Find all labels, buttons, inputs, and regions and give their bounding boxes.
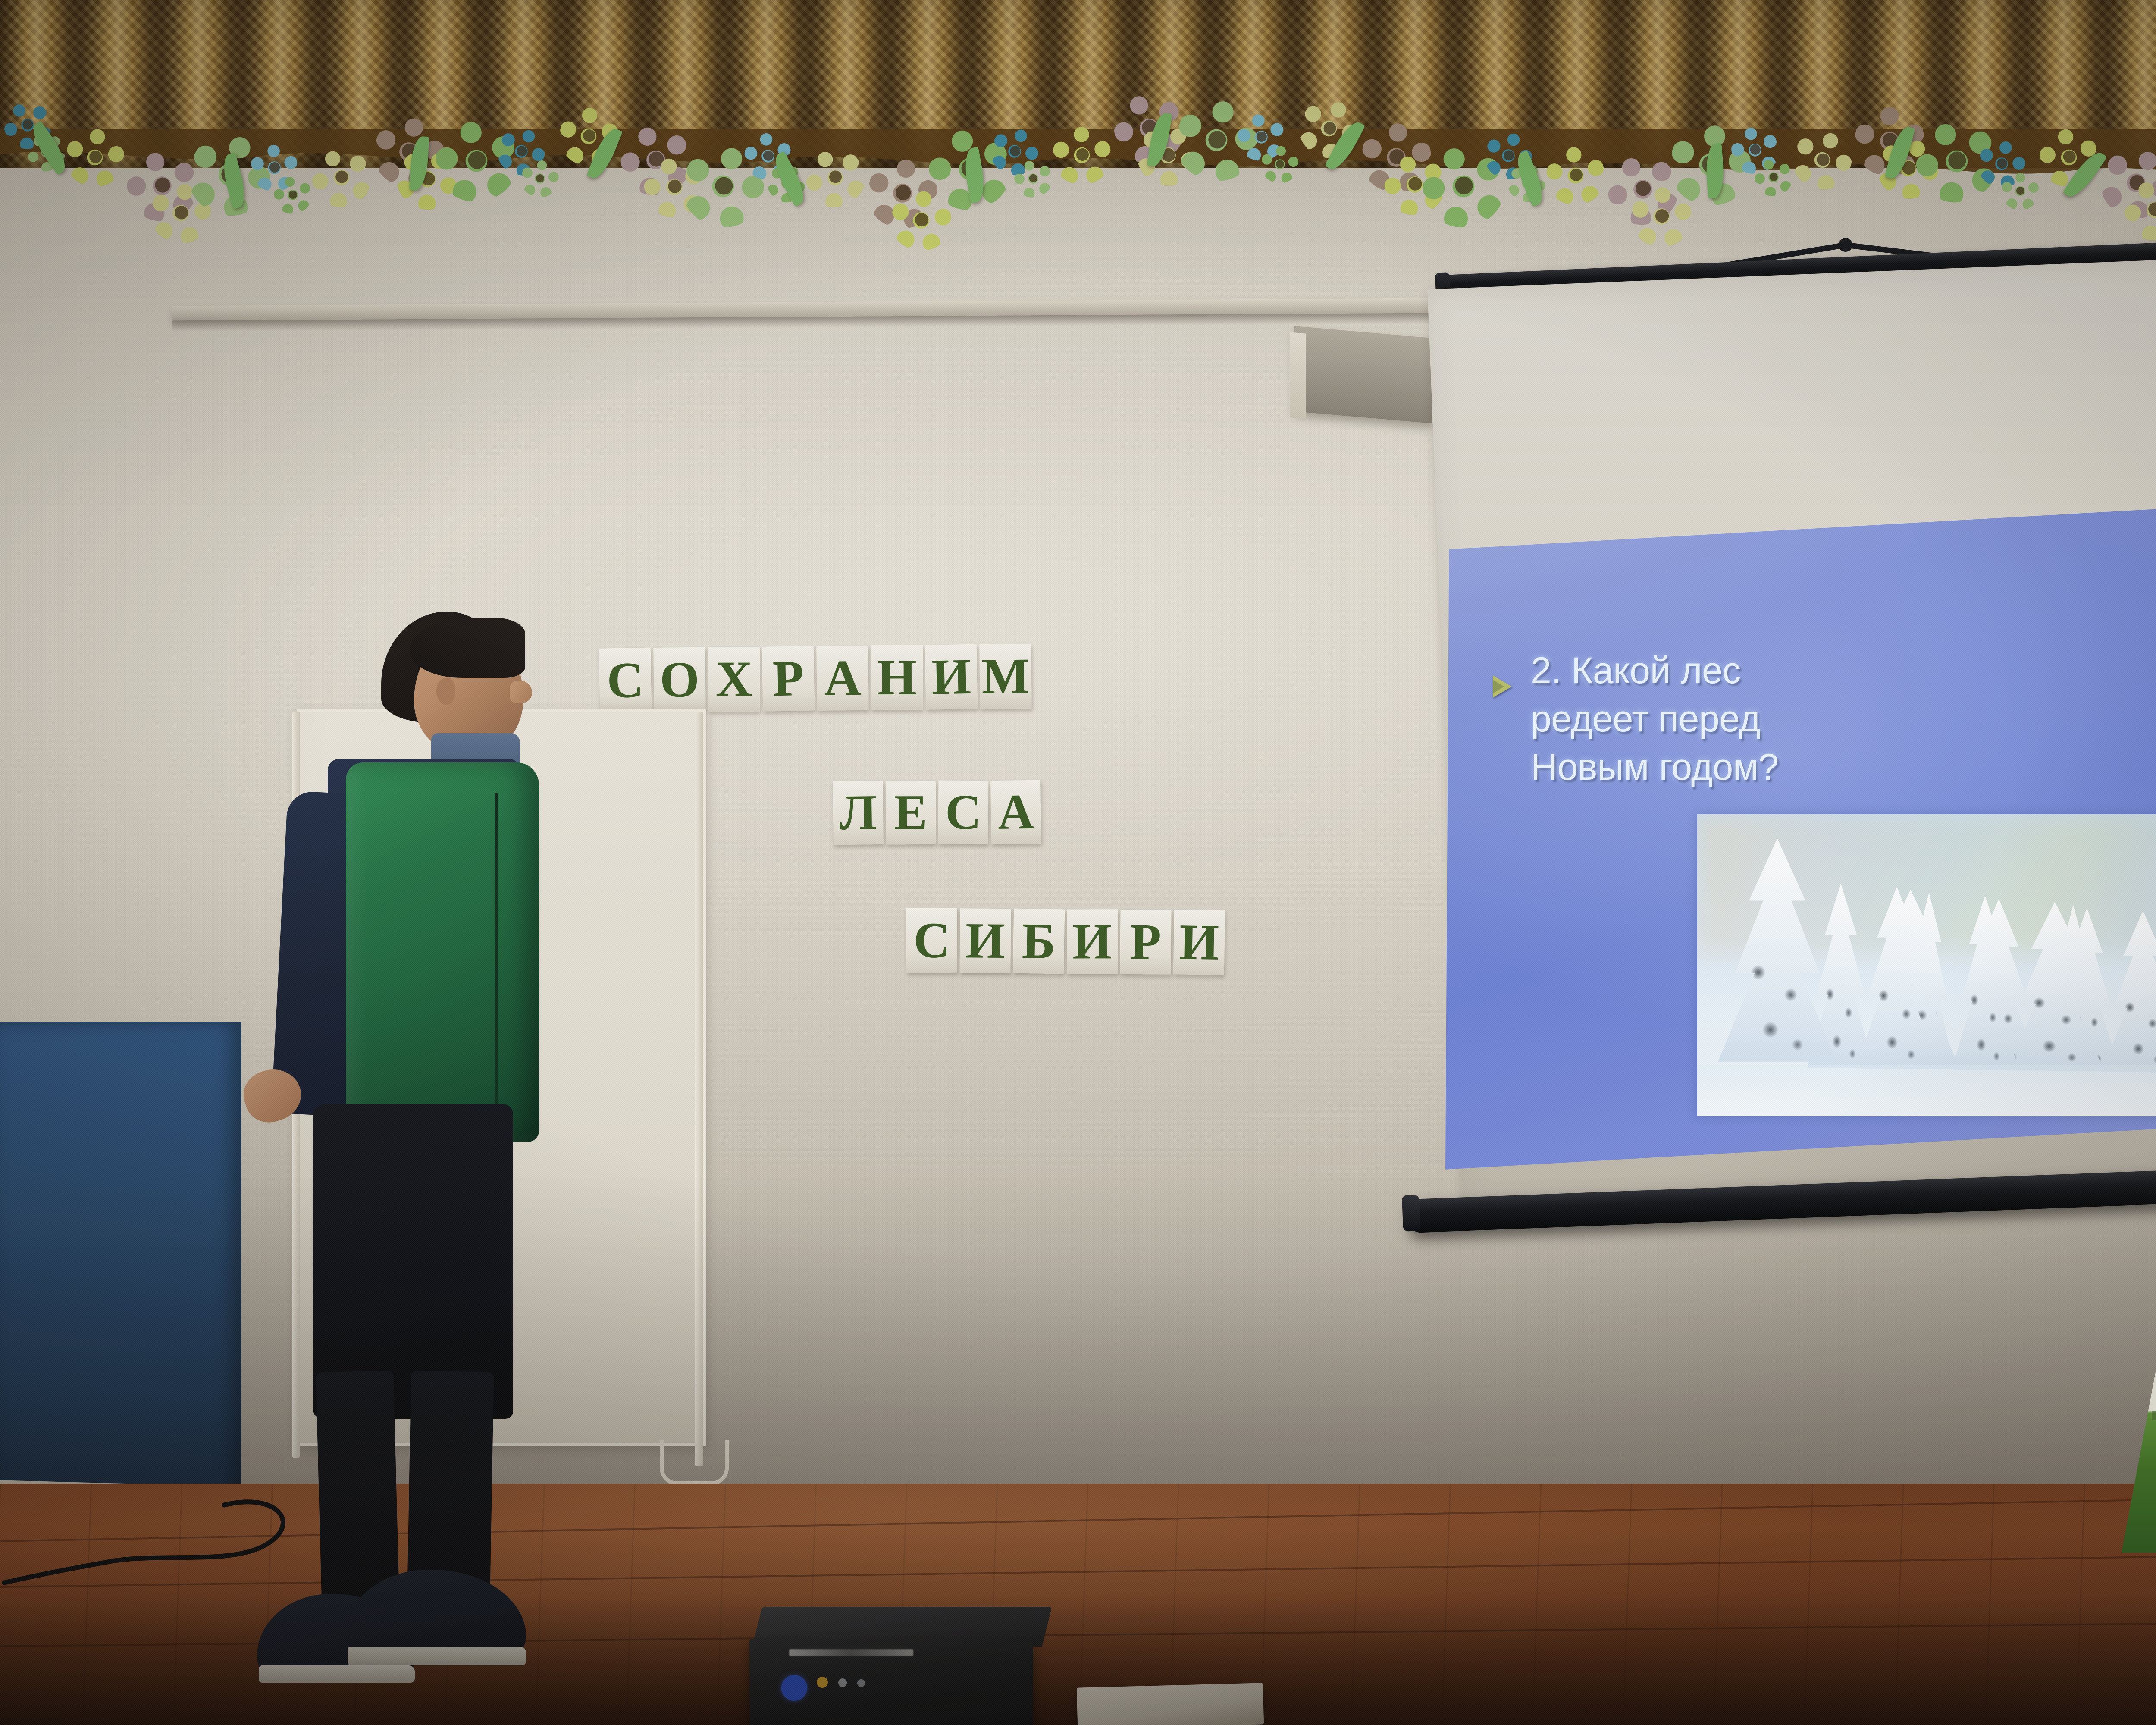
amp-knob[interactable] [838,1678,847,1687]
paper-stack [1077,1683,1264,1725]
sign-letter: Р [762,646,815,712]
shoe-sole-back [259,1665,415,1683]
snow-ground [1697,1065,2156,1116]
sign-letter: Л [833,781,884,845]
shoe-sole-front [348,1647,526,1665]
sign-letter: И [925,644,978,710]
flower-center [1655,209,1669,223]
paper-flower [271,172,315,217]
sign-letter: Р [1120,910,1171,975]
green-vest [346,762,539,1142]
sign-letter: И [1067,909,1118,974]
sign-letter: А [816,646,869,711]
flower-center [269,162,280,172]
sign-letter: Х [708,647,760,712]
sign-letter: С [938,780,989,844]
sign-line-3: СИБИРИ [906,908,1225,975]
paper-flower-garland [0,65,2156,246]
photo-scene: СОХРАНИМ ЛЕСА СИБИРИ 2. Какой лес редеет… [0,0,2156,1725]
paper-flower [796,138,874,217]
amp-input-jack[interactable] [781,1675,807,1701]
paper-mountain-tree-cutouts [2126,1251,2156,1552]
wall-mounted-fixture [1294,326,1432,423]
paper-flower [518,157,561,200]
sign-letter: С [906,908,957,973]
amp-knob[interactable] [817,1677,828,1688]
vest-zipper [495,793,498,1124]
tree-shadow-detail [1743,947,1811,1072]
sign-letter: Е [886,781,936,844]
blue-wall-panel [0,1022,241,1509]
paper-flower [1260,144,1300,184]
sign-line-2: ЛЕСА [833,780,1041,845]
winter-forest-photo [1697,814,2156,1116]
sign-letter: Н [871,645,923,710]
sign-letter: М [979,644,1032,709]
slide-bullet-arrow-icon [1493,675,1512,698]
sign-letter: Б [1013,909,1065,974]
amp-label-strip [789,1649,913,1656]
tree-shadow-detail [1873,975,1921,1077]
paper-flower [2002,172,2039,210]
sign-line-1: СОХРАНИМ [599,644,1032,713]
sign-letter: И [1173,910,1225,975]
paper-flower [63,125,127,189]
sign-letter: О [653,647,706,712]
ear [436,678,455,705]
slide-question-text: 2. Какой лес редеет перед Новым годом? [1531,647,2014,791]
wall-fixture-lip [1290,332,1306,419]
sign-letter: А [990,780,1041,844]
amp-knob[interactable] [857,1679,865,1687]
tree-shadow-detail [1966,981,2004,1078]
paper-flower [1053,126,1111,185]
projected-slide: 2. Какой лес редеет перед Новым годом? [1445,495,2156,1172]
sign-letter: И [959,908,1011,973]
easel-leg-right [695,712,703,1466]
easel-foot [660,1440,729,1485]
sign-letter: С [599,647,652,713]
